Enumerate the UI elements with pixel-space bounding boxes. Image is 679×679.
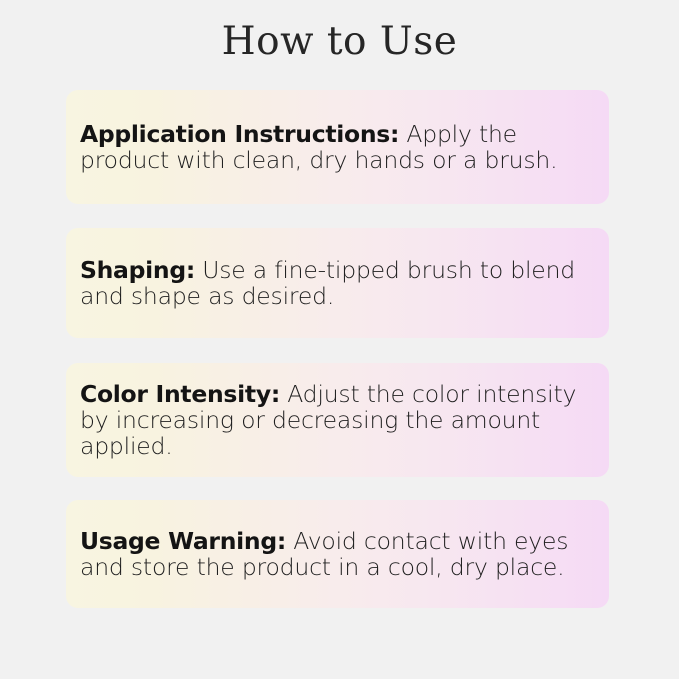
page-title: How to Use — [0, 14, 679, 70]
instruction-card-text: Shaping: Use a fine-tipped brush to blen… — [80, 257, 587, 309]
instruction-card-label: Shaping: — [80, 256, 195, 284]
instruction-card-label: Usage Warning: — [80, 527, 286, 555]
instruction-card-text: Application Instructions: Apply the prod… — [80, 121, 587, 173]
how-to-use-page: How to Use Application Instructions: App… — [0, 0, 679, 679]
instruction-card-text: Color Intensity: Adjust the color intens… — [80, 381, 587, 459]
instruction-card-label: Color Intensity: — [80, 380, 280, 408]
instruction-card-text: Usage Warning: Avoid contact with eyes a… — [80, 528, 587, 580]
instruction-card-list: Application Instructions: Apply the prod… — [66, 90, 609, 608]
instruction-card-application-instructions: Application Instructions: Apply the prod… — [66, 90, 609, 204]
instruction-card-usage-warning: Usage Warning: Avoid contact with eyes a… — [66, 500, 609, 608]
instruction-card-color-intensity: Color Intensity: Adjust the color intens… — [66, 363, 609, 477]
instruction-card-shaping: Shaping: Use a fine-tipped brush to blen… — [66, 228, 609, 338]
instruction-card-label: Application Instructions: — [80, 120, 399, 148]
